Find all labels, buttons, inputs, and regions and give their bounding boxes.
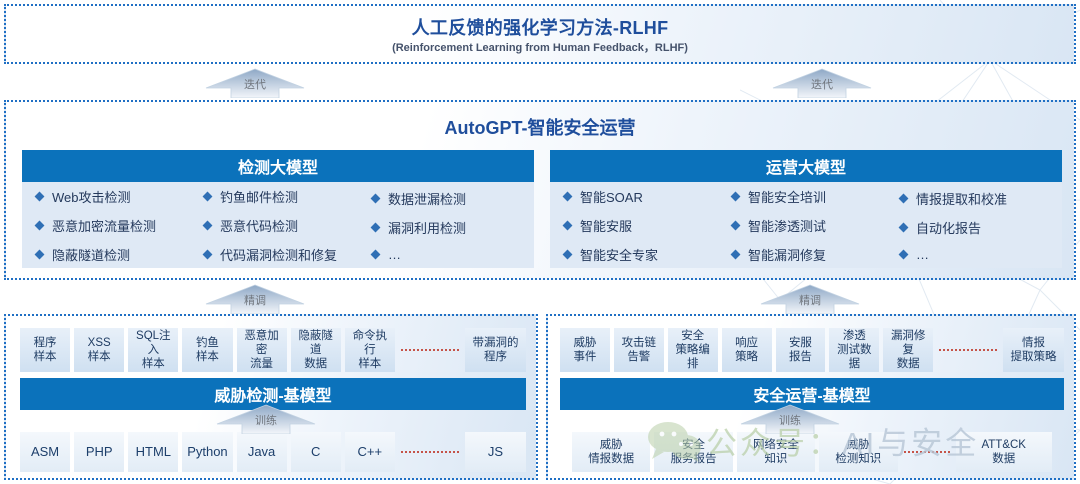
ops-sample-chip-line: 安服 <box>789 336 812 350</box>
threat-sample-chip-line: 样本 <box>358 357 381 371</box>
threat-sample-chip-line: SQL注入 <box>131 329 175 357</box>
ops-feature-item[interactable]: 情报提取和校准 <box>890 189 1058 208</box>
threat-sample-chip-line: 隐蔽隧道 <box>294 329 338 357</box>
diamond-bullet-icon <box>203 191 213 201</box>
arrow-train-left-label: 训练 <box>216 412 316 428</box>
threat-sample-chip-line: 钓鱼 <box>196 336 219 350</box>
language-chip-line: HTML <box>136 445 171 459</box>
detect-feature-item[interactable]: 恶意加密流量检测 <box>26 216 194 235</box>
ops-feature-label: 智能SOAR <box>580 187 643 206</box>
detect-feature-item[interactable]: 漏洞利用检测 <box>362 218 530 237</box>
ops-feature-label: 智能安全培训 <box>748 187 826 206</box>
language-chip-line: Java <box>248 445 275 459</box>
dotted-line <box>401 451 459 453</box>
ops-feature-column-2: 智能安全培训智能渗透测试智能漏洞修复 <box>722 187 890 264</box>
arrow-finetune-right: 精调 <box>760 284 860 314</box>
rlhf-panel: 人工反馈的强化学习方法-RLHF (Reinforcement Learning… <box>4 4 1076 64</box>
dotted-line <box>904 451 950 453</box>
corpus-chip-line: 知识 <box>764 452 787 466</box>
ops-sample-chip-line: 数据 <box>897 357 920 371</box>
ops-sample-chip-line: 响应 <box>735 336 758 350</box>
diamond-bullet-icon <box>371 193 381 203</box>
ops-feature-column-1: 智能SOAR智能安服智能安全专家 <box>554 187 722 264</box>
diamond-bullet-icon <box>899 249 909 259</box>
threat-sample-chip-line: 程序 <box>34 336 57 350</box>
diamond-bullet-icon <box>35 249 45 259</box>
operations-model-card: 运营大模型 智能SOAR智能安服智能安全专家智能安全培训智能渗透测试智能漏洞修复… <box>550 150 1062 268</box>
detect-feature-column-1: Web攻击检测恶意加密流量检测隐蔽隧道检测 <box>26 187 194 264</box>
threat-sample-chip-tail-line: 程序 <box>484 350 507 364</box>
diamond-bullet-icon <box>731 191 741 201</box>
ops-feature-item[interactable]: 智能安全培训 <box>722 187 890 206</box>
corpus-chip[interactable]: 威胁检测知识 <box>819 432 897 472</box>
detect-feature-column-3: 数据泄漏检测漏洞利用检测… <box>362 189 530 262</box>
ops-sample-chip-line: 渗透 <box>843 329 866 343</box>
corpus-chip-line: 服务报告 <box>671 452 717 466</box>
language-chip-ellipsis-connector <box>395 432 465 472</box>
operations-model-body: 智能SOAR智能安服智能安全专家智能安全培训智能渗透测试智能漏洞修复情报提取和校… <box>550 182 1062 268</box>
ops-sample-chip[interactable]: 响应策略 <box>722 328 772 372</box>
ops-feature-item[interactable]: … <box>890 247 1058 262</box>
diamond-bullet-icon <box>731 220 741 230</box>
arrow-finetune-left: 精调 <box>205 284 305 314</box>
ops-feature-column-3: 情报提取和校准自动化报告… <box>890 189 1058 262</box>
threat-sample-chip-line: XSS <box>88 336 111 350</box>
arrow-iterate-left: 迭代 <box>205 68 305 98</box>
threat-sample-chip[interactable]: 命令执行样本 <box>345 328 395 372</box>
ops-sample-chip-line: 攻击链 <box>622 336 657 350</box>
detect-feature-item[interactable]: 代码漏洞检测和修复 <box>194 245 362 264</box>
language-chip-tail[interactable]: JS <box>465 432 526 472</box>
ops-feature-label: 智能安全专家 <box>580 245 658 264</box>
ops-feature-label: … <box>916 247 929 262</box>
ops-sample-chip[interactable]: 安全策略编排 <box>668 328 718 372</box>
language-chip[interactable]: C++ <box>345 432 395 472</box>
detection-model-card: 检测大模型 Web攻击检测恶意加密流量检测隐蔽隧道检测钓鱼邮件检测恶意代码检测代… <box>22 150 534 268</box>
detect-feature-label: 恶意代码检测 <box>220 216 298 235</box>
threat-sample-chip-line: 命令执行 <box>348 329 392 357</box>
arrow-iterate-right: 迭代 <box>772 68 872 98</box>
diamond-bullet-icon <box>203 249 213 259</box>
diamond-bullet-icon <box>563 191 573 201</box>
detection-model-header: 检测大模型 <box>22 150 534 182</box>
diamond-bullet-icon <box>371 222 381 232</box>
ops-sample-chip-line: 告警 <box>627 350 650 364</box>
ops-feature-label: 情报提取和校准 <box>916 189 1007 208</box>
arrow-iterate-left-label: 迭代 <box>205 76 305 92</box>
diamond-bullet-icon <box>899 222 909 232</box>
ops-sample-chip[interactable]: 漏洞修复数据 <box>883 328 933 372</box>
ops-feature-label: 智能渗透测试 <box>748 216 826 235</box>
threat-sample-chip-row: 程序样本XSS样本SQL注入样本钓鱼样本恶意加密流量隐蔽隧道数据命令执行样本带漏… <box>20 328 526 372</box>
corpus-chip-line: 威胁 <box>847 438 870 452</box>
threat-sample-chip[interactable]: SQL注入样本 <box>128 328 178 372</box>
detect-feature-label: 恶意加密流量检测 <box>52 216 156 235</box>
language-chip-line: Python <box>187 445 227 459</box>
ops-feature-item[interactable]: 智能渗透测试 <box>722 216 890 235</box>
detect-feature-label: … <box>388 247 401 262</box>
corpus-chip[interactable]: 安全服务报告 <box>654 432 732 472</box>
ops-sample-chip-row: 威胁事件攻击链告警安全策略编排响应策略安服报告渗透测试数据漏洞修复数据情报提取策… <box>560 328 1064 372</box>
ops-sample-chip[interactable]: 威胁事件 <box>560 328 610 372</box>
ops-sample-chip[interactable]: 攻击链告警 <box>614 328 664 372</box>
threat-sample-chip[interactable]: 隐蔽隧道数据 <box>291 328 341 372</box>
threat-sample-chip[interactable]: 恶意加密流量 <box>237 328 287 372</box>
diamond-bullet-icon <box>203 220 213 230</box>
ops-sample-chip[interactable]: 渗透测试数据 <box>829 328 879 372</box>
corpus-chip-ellipsis-connector <box>898 432 956 472</box>
diamond-bullet-icon <box>563 220 573 230</box>
threat-sample-chip[interactable]: 钓鱼样本 <box>182 328 232 372</box>
threat-sample-chip-line: 样本 <box>34 350 57 364</box>
ops-feature-item[interactable]: 智能安全专家 <box>554 245 722 264</box>
arrow-finetune-right-label: 精调 <box>760 292 860 308</box>
ops-feature-item[interactable]: 智能SOAR <box>554 187 722 206</box>
ops-sample-chip-line: 漏洞修复 <box>886 329 930 357</box>
ops-feature-label: 智能安服 <box>580 216 632 235</box>
diamond-bullet-icon <box>899 193 909 203</box>
ops-sample-chip-tail-line: 提取策略 <box>1011 350 1057 364</box>
threat-sample-chip[interactable]: XSS样本 <box>74 328 124 372</box>
detect-feature-item[interactable]: 恶意代码检测 <box>194 216 362 235</box>
ops-feature-item[interactable]: 智能漏洞修复 <box>722 245 890 264</box>
ops-sample-chip-line: 安全 <box>681 329 704 343</box>
corpus-chip-tail-line: 数据 <box>992 452 1015 466</box>
threat-sample-chip-ellipsis-connector <box>395 328 465 372</box>
language-chip-line: ASM <box>31 445 59 459</box>
corpus-chip[interactable]: 网络安全知识 <box>737 432 815 472</box>
arrow-iterate-right-label: 迭代 <box>772 76 872 92</box>
detect-feature-column-2: 钓鱼邮件检测恶意代码检测代码漏洞检测和修复 <box>194 187 362 264</box>
ops-feature-item[interactable]: 智能安服 <box>554 216 722 235</box>
detect-feature-item[interactable]: … <box>362 247 530 262</box>
threat-sample-chip-line: 恶意加密 <box>240 329 284 357</box>
threat-sample-chip-line: 样本 <box>196 350 219 364</box>
programming-language-chip-row: ASMPHPHTMLPythonJavaCC++JS <box>20 432 526 472</box>
language-chip-tail-line: JS <box>488 445 503 459</box>
corpus-chip-line: 检测知识 <box>835 452 881 466</box>
ops-sample-chip-line: 威胁 <box>573 336 596 350</box>
diagram-canvas: 人工反馈的强化学习方法-RLHF (Reinforcement Learning… <box>0 0 1080 484</box>
language-chip[interactable]: Python <box>182 432 232 472</box>
dotted-line <box>939 349 997 351</box>
corpus-chip-tail[interactable]: ATT&CK数据 <box>956 432 1052 472</box>
ops-feature-label: 自动化报告 <box>916 218 981 237</box>
autogpt-title: AutoGPT-智能安全运营 <box>6 114 1074 140</box>
language-chip[interactable]: C <box>291 432 341 472</box>
detect-feature-item[interactable]: 数据泄漏检测 <box>362 189 530 208</box>
threat-sample-chip-tail[interactable]: 带漏洞的程序 <box>465 328 526 372</box>
threat-sample-chip-line: 样本 <box>88 350 111 364</box>
ops-feature-item[interactable]: 自动化报告 <box>890 218 1058 237</box>
detect-feature-label: 隐蔽隧道检测 <box>52 245 130 264</box>
diamond-bullet-icon <box>35 220 45 230</box>
diamond-bullet-icon <box>35 191 45 201</box>
detect-feature-item[interactable]: 钓鱼邮件检测 <box>194 187 362 206</box>
language-chip-line: C++ <box>358 445 383 459</box>
language-chip[interactable]: PHP <box>74 432 124 472</box>
detect-feature-label: Web攻击检测 <box>52 187 131 206</box>
ops-sample-chip-ellipsis-connector <box>933 328 1003 372</box>
corpus-chip[interactable]: 威胁情报数据 <box>572 432 650 472</box>
knowledge-corpus-chip-row: 威胁情报数据安全服务报告网络安全知识威胁检测知识ATT&CK数据 <box>572 432 1052 472</box>
language-chip[interactable]: ASM <box>20 432 70 472</box>
detect-feature-label: 代码漏洞检测和修复 <box>220 245 337 264</box>
ops-sample-chip-tail-line: 情报 <box>1022 336 1045 350</box>
rlhf-subtitle: (Reinforcement Learning from Human Feedb… <box>6 39 1074 55</box>
detect-feature-label: 数据泄漏检测 <box>388 189 466 208</box>
threat-detection-base-panel: 程序样本XSS样本SQL注入样本钓鱼样本恶意加密流量隐蔽隧道数据命令执行样本带漏… <box>4 314 538 480</box>
threat-sample-chip[interactable]: 程序样本 <box>20 328 70 372</box>
ops-sample-chip-tail[interactable]: 情报提取策略 <box>1003 328 1064 372</box>
ops-sample-chip-line: 测试数据 <box>832 343 876 371</box>
corpus-chip-tail-line: ATT&CK <box>981 438 1026 452</box>
ops-sample-chip-line: 策略编排 <box>671 343 715 371</box>
detect-feature-item[interactable]: Web攻击检测 <box>26 187 194 206</box>
dotted-line <box>401 349 459 351</box>
ops-sample-chip-line: 报告 <box>789 350 812 364</box>
arrow-train-right: 训练 <box>740 404 840 434</box>
autogpt-panel: AutoGPT-智能安全运营 检测大模型 Web攻击检测恶意加密流量检测隐蔽隧道… <box>4 100 1076 280</box>
threat-sample-chip-tail-line: 带漏洞的 <box>472 336 518 350</box>
corpus-chip-line: 情报数据 <box>588 452 634 466</box>
corpus-chip-line: 威胁 <box>600 438 623 452</box>
arrow-finetune-left-label: 精调 <box>205 292 305 308</box>
detect-feature-label: 钓鱼邮件检测 <box>220 187 298 206</box>
diamond-bullet-icon <box>731 249 741 259</box>
ops-sample-chip-line: 事件 <box>573 350 596 364</box>
diamond-bullet-icon <box>371 249 381 259</box>
security-operations-base-panel: 威胁事件攻击链告警安全策略编排响应策略安服报告渗透测试数据漏洞修复数据情报提取策… <box>546 314 1076 480</box>
threat-sample-chip-line: 数据 <box>304 357 327 371</box>
diamond-bullet-icon <box>563 249 573 259</box>
corpus-chip-line: 网络安全 <box>753 438 799 452</box>
operations-model-header: 运营大模型 <box>550 150 1062 182</box>
language-chip[interactable]: HTML <box>128 432 178 472</box>
arrow-train-left: 训练 <box>216 404 316 434</box>
arrow-train-right-label: 训练 <box>740 412 840 428</box>
ops-feature-label: 智能漏洞修复 <box>748 245 826 264</box>
language-chip-line: C <box>311 445 320 459</box>
language-chip-line: PHP <box>86 445 113 459</box>
corpus-chip-line: 安全 <box>682 438 705 452</box>
threat-sample-chip-line: 样本 <box>142 357 165 371</box>
threat-sample-chip-line: 流量 <box>250 357 273 371</box>
rlhf-title: 人工反馈的强化学习方法-RLHF <box>6 14 1074 40</box>
detect-feature-label: 漏洞利用检测 <box>388 218 466 237</box>
ops-sample-chip-line: 策略 <box>735 350 758 364</box>
language-chip[interactable]: Java <box>237 432 287 472</box>
ops-sample-chip[interactable]: 安服报告 <box>776 328 826 372</box>
detect-feature-item[interactable]: 隐蔽隧道检测 <box>26 245 194 264</box>
detection-model-body: Web攻击检测恶意加密流量检测隐蔽隧道检测钓鱼邮件检测恶意代码检测代码漏洞检测和… <box>22 182 534 268</box>
